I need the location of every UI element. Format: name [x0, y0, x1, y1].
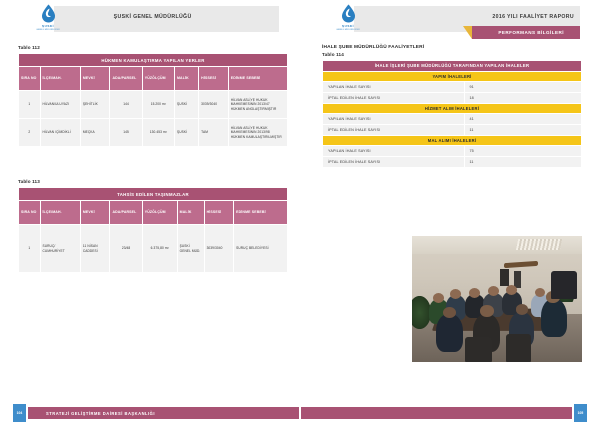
row-value: 41 [465, 113, 582, 124]
group-label: MAL ALIMI İHALELERİ [323, 135, 582, 145]
ihale-section-title: İHALE ŞUBE MÜDÜRLÜĞÜ FAALİYETLERİ [322, 45, 582, 50]
cell-ilce-mah: HİLVAN/ULUYAZI [40, 91, 80, 119]
photo-person-head [469, 288, 480, 298]
page-gutter [299, 0, 301, 426]
logo-name: ŞUSKİ [328, 24, 368, 28]
right-page-number: 105 [574, 404, 587, 422]
photo-chair [465, 337, 492, 362]
cell-edinme-sebebi: HİLVAN ASLİYE HUKUK MAHKEMESİNİN 2013/98… [228, 119, 287, 147]
col-malik: MALİK [174, 67, 198, 91]
cell-edinme-sebebi: HİLVAN ASLİYE HUKUK MAHKEMESİNİN 2013/47… [228, 91, 287, 119]
photo-person-back [436, 314, 463, 352]
cell-ilce-mah: SURUÇ/ CUMHURİYET [40, 225, 80, 273]
cell-sira-no: 2 [19, 119, 41, 147]
left-page: ŞUSKİ GENEL MÜDÜRLÜĞÜ ŞUSKİ GENEL MÜDÜRL… [0, 0, 300, 426]
cell-ada-parsel: 145 [110, 119, 142, 147]
table112-header-row: SIRA NO İLÇE/MAH. MEVKİ ADA/PARSEL YÜZÖL… [19, 67, 288, 91]
meeting-photo [412, 236, 582, 362]
group-mal-alimi-ihaleleri: MAL ALIMI İHALELERİ [323, 135, 582, 145]
col-sira-no: SIRA NO [19, 201, 41, 225]
table112-title-row: HÜKMEN KAMULAŞTIRMA YAPILAN YERLER [19, 54, 288, 67]
suski-logo: ŞUSKİ GENEL MÜDÜRLÜĞÜ [28, 4, 68, 31]
water-drop-icon [341, 4, 356, 23]
group-yapim-ihaleleri: YAPIM İHALELERİ [323, 71, 582, 81]
left-page-number: 104 [13, 404, 26, 422]
cell-ada-parsel: 144 [110, 91, 142, 119]
cell-sira-no: 1 [19, 91, 41, 119]
col-mevki: MEVKİ [80, 201, 110, 225]
col-yuzolcum: YÜZÖLÇÜM [142, 201, 177, 225]
cell-hissesi: 3039/3040 [199, 91, 229, 119]
cell-malik: ŞUSKİ [174, 119, 198, 147]
table-row: 1 HİLVAN/ULUYAZI ŞEHİTLİK 144 15.200 m² … [19, 91, 288, 119]
section-ribbon: PERFORMANS BİLGİLERİ [472, 26, 580, 39]
table114-block: İHALE ŞUBE MÜDÜRLÜĞÜ FAALİYETLERİ Tablo … [322, 45, 582, 168]
table-row: YAPILAN İHALE SAYISI 41 [323, 113, 582, 124]
table114-title-row: İHALE İŞLERİ ŞUBE MÜDÜRLÜĞÜ TARAFINDAN Y… [323, 60, 582, 71]
cell-hissesi: TAM [199, 119, 229, 147]
table113-caption: Tablo 113 [18, 179, 288, 184]
row-label: YAPILAN İHALE SAYISI [323, 145, 465, 156]
cell-ilce-mah: HİLVAN /ÇİMDİKLİ [40, 119, 80, 147]
table-row: 2 HİLVAN /ÇİMDİKLİ MEÇKA 145 130.453 m² … [19, 119, 288, 147]
cell-hissesi: 3039/3040 [204, 225, 234, 273]
cell-ada-parsel: 23/48 [110, 225, 142, 273]
row-value: 91 [465, 81, 582, 92]
left-footer-bar: STRATEJİ GELİŞTİRME DAİRESİ BAŞKANLIĞI [28, 407, 299, 419]
meeting-photo-container [404, 226, 590, 368]
row-label: İPTAL EDİLEN İHALE SAYISI [323, 156, 465, 167]
ribbon-label: PERFORMANS BİLGİLERİ [498, 30, 564, 35]
table113-title: TAHSİS EDİLEN TAŞINMAZLAR [19, 188, 288, 201]
photo-person-back [541, 299, 567, 337]
logo-subtitle: GENEL MÜDÜRLÜĞÜ [28, 29, 68, 31]
right-page: 2016 YILI FAALİYET RAPORU ŞUSKİ GENEL MÜ… [300, 0, 600, 426]
table113: TAHSİS EDİLEN TAŞINMAZLAR SIRA NO İLÇE/M… [18, 187, 288, 273]
photo-person-head [443, 307, 457, 318]
row-value: 11 [465, 124, 582, 135]
right-header-title: 2016 YILI FAALİYET RAPORU [492, 14, 574, 20]
right-footer-bar [300, 407, 572, 419]
cell-mevki: ŞEHİTLİK [80, 91, 110, 119]
col-ada-parsel: ADA/PARSEL [110, 67, 142, 91]
cell-mevki: MEÇKA [80, 119, 110, 147]
logo-name: ŞUSKİ [28, 24, 68, 28]
row-value: 11 [465, 156, 582, 167]
row-label: İPTAL EDİLEN İHALE SAYISI [323, 124, 465, 135]
table113-header-row: SIRA NO İLÇE/MAH. MEVKİ ADA/PARSEL YÜZÖL… [19, 201, 288, 225]
footer-text: STRATEJİ GELİŞTİRME DAİRESİ BAŞKANLIĞI [46, 411, 155, 416]
cell-edinme-sebebi: SURUÇ BELEDİYESİ [234, 225, 288, 273]
col-ilce-mah: İLÇE/MAH. [40, 201, 80, 225]
cell-malik: ŞUSKİ GENEL MÜD. [177, 225, 204, 273]
row-label: YAPILAN İHALE SAYISI [323, 113, 465, 124]
water-drop-icon [41, 4, 56, 23]
photo-person-head [516, 304, 529, 315]
table113-block: Tablo 113 TAHSİS EDİLEN TAŞINMAZLAR SIRA… [18, 179, 288, 273]
photo-ceiling-light [516, 239, 563, 250]
table-row: İPTAL EDİLEN İHALE SAYISI 11 [323, 156, 582, 167]
cell-sira-no: 1 [19, 225, 41, 273]
photo-chair [506, 334, 532, 362]
logo-subtitle: GENEL MÜDÜRLÜĞÜ [328, 29, 368, 31]
col-edinme-sebebi: EDİNME SEBEBİ [234, 201, 288, 225]
col-sira-no: SIRA NO [19, 67, 41, 91]
table114-title: İHALE İŞLERİ ŞUBE MÜDÜRLÜĞÜ TARAFINDAN Y… [323, 60, 582, 71]
document-spread: ŞUSKİ GENEL MÜDÜRLÜĞÜ ŞUSKİ GENEL MÜDÜRL… [0, 0, 600, 426]
cell-mevki: 11 NİSAN CADDESİ [80, 225, 110, 273]
col-edinme-sebebi: EDİNME SEBEBİ [228, 67, 287, 91]
cell-malik: ŞUSKİ [174, 91, 198, 119]
table-row: YAPILAN İHALE SAYISI 91 [323, 81, 582, 92]
table112-title: HÜKMEN KAMULAŞTIRMA YAPILAN YERLER [19, 54, 288, 67]
row-value: 75 [465, 145, 582, 156]
table112-block: Tablo 112 HÜKMEN KAMULAŞTIRMA YAPILAN YE… [18, 45, 288, 147]
row-label: İPTAL EDİLEN İHALE SAYISI [323, 92, 465, 103]
photo-chair [551, 271, 577, 299]
table-row: 1 SURUÇ/ CUMHURİYET 11 NİSAN CADDESİ 23/… [19, 225, 288, 273]
col-hissesi: HİSSESİ [199, 67, 229, 91]
col-malik: MALİK [177, 201, 204, 225]
table113-title-row: TAHSİS EDİLEN TAŞINMAZLAR [19, 188, 288, 201]
table-row: İPTAL EDİLEN İHALE SAYISI 18 [323, 92, 582, 103]
table112-caption: Tablo 112 [18, 45, 288, 50]
table112: HÜKMEN KAMULAŞTIRMA YAPILAN YERLER SIRA … [18, 53, 288, 147]
table114-caption: Tablo 114 [322, 52, 582, 57]
col-ilce-mah: İLÇE/MAH. [40, 67, 80, 91]
photo-wall-frame-1 [500, 269, 509, 287]
table-row: İPTAL EDİLEN İHALE SAYISI 11 [323, 124, 582, 135]
row-label: YAPILAN İHALE SAYISI [323, 81, 465, 92]
photo-person-head [480, 305, 494, 316]
suski-logo: ŞUSKİ GENEL MÜDÜRLÜĞÜ [328, 4, 368, 31]
table-row: YAPILAN İHALE SAYISI 75 [323, 145, 582, 156]
row-value: 18 [465, 92, 582, 103]
left-header-title: ŞUSKİ GENEL MÜDÜRLÜĞÜ [114, 14, 192, 20]
group-header-row: YAPIM İHALELERİ [323, 71, 582, 81]
group-hizmet-alim-ihaleleri: HİZMET ALIM İHALELERİ [323, 103, 582, 113]
col-mevki: MEVKİ [80, 67, 110, 91]
cell-yuzolcum: 15.200 m² [142, 91, 174, 119]
cell-yuzolcum: 130.453 m² [142, 119, 174, 147]
photo-person-head [433, 293, 444, 303]
col-yuzolcum: YÜZÖLÇÜM [142, 67, 174, 91]
col-hissesi: HİSSESİ [204, 201, 234, 225]
cell-yuzolcum: 6.375,80 m² [142, 225, 177, 273]
col-ada-parsel: ADA/PARSEL [110, 201, 142, 225]
ribbon-tail-icon [463, 26, 472, 39]
photo-plant-left [412, 296, 431, 329]
table114: İHALE İŞLERİ ŞUBE MÜDÜRLÜĞÜ TARAFINDAN Y… [322, 60, 582, 168]
group-label: HİZMET ALIM İHALELERİ [323, 103, 582, 113]
